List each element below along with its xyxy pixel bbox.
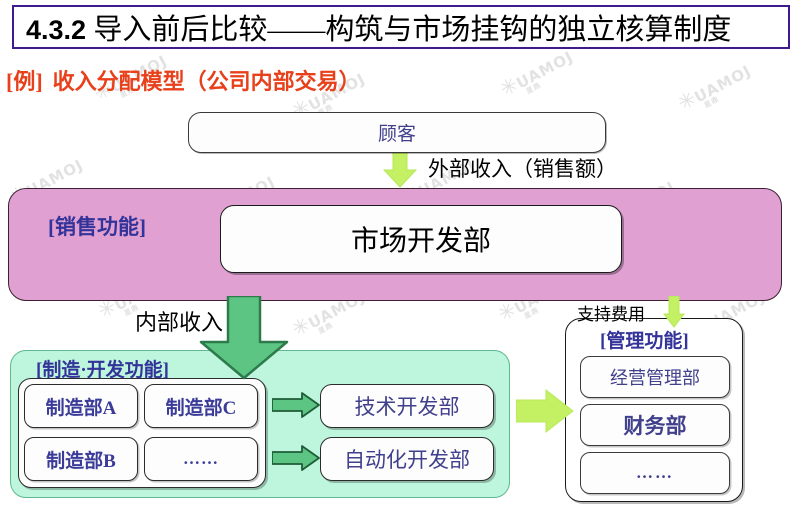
mfg-dept-c-box: 制造部C [144, 384, 258, 428]
mfg-to-automation-arrow-icon [272, 445, 320, 471]
technology-development-dept-box: 技术开发部 [320, 384, 494, 428]
watermark: ✳UAMOJ星鼎 [674, 57, 758, 121]
management-dept-more-box: …… [580, 452, 730, 494]
example-tag: [例] [6, 69, 43, 94]
internal-revenue-label: 内部收入 [135, 305, 223, 337]
dev-to-management-arrow-icon [516, 388, 574, 434]
sales-function-label: [销售功能] [48, 211, 146, 241]
watermark-star-icon: ✳ [496, 72, 523, 101]
watermark-text: UAMOJ [513, 48, 576, 93]
customer-label: 顾客 [378, 119, 416, 146]
management-function-label: [管理功能] [600, 326, 689, 353]
customer-box: 顾客 [188, 112, 606, 153]
support-cost-label: 支持费用 [577, 300, 645, 325]
mfg-dept-more-box: …… [144, 437, 258, 481]
title-body: 导入前后比较——构筑与市场挂钩的独立核算制度 [93, 14, 731, 46]
example-heading: [例]收入分配模型（公司内部交易） [6, 64, 361, 96]
slide-canvas: ✳UAMOJ星鼎 ✳UAMOJ星鼎 ✳UAMOJ星鼎 ✳UAMOJ星鼎 ✳UAM… [0, 0, 807, 507]
operations-management-dept-box: 经营管理部 [580, 356, 730, 398]
page-title: 4.3.2 导入前后比较——构筑与市场挂钩的独立核算制度 [14, 6, 731, 48]
slide-title-box: 4.3.2 导入前后比较——构筑与市场挂钩的独立核算制度 [12, 5, 790, 49]
example-text: 收入分配模型（公司内部交易） [53, 69, 361, 94]
market-development-dept-box: 市场开发部 [220, 205, 622, 273]
mfg-dept-a-box: 制造部A [24, 384, 138, 428]
title-number: 4.3.2 [26, 15, 86, 45]
watermark-sub: 星鼎 [702, 75, 757, 111]
mfg-to-tech-arrow-icon [272, 392, 320, 418]
watermark-sub: 星鼎 [524, 61, 579, 97]
mfg-dept-b-box: 制造部B [24, 437, 138, 481]
finance-dept-box: 财务部 [580, 404, 730, 446]
watermark-sub: 星鼎 [316, 301, 371, 337]
watermark-star-icon: ✳ [288, 312, 315, 341]
watermark-star-icon: ✳ [674, 86, 701, 115]
automation-development-dept-box: 自动化开发部 [320, 437, 494, 481]
market-development-dept-label: 市场开发部 [351, 219, 491, 259]
external-revenue-arrow-icon [383, 152, 417, 188]
watermark-text: UAMOJ [691, 62, 754, 107]
manufacturing-function-label: [制造·开发功能] [36, 355, 169, 382]
support-cost-arrow-icon [663, 296, 685, 328]
external-revenue-label: 外部收入（销售额） [428, 153, 617, 183]
watermark: ✳UAMOJ星鼎 [496, 43, 580, 107]
watermark-star-icon: ✳ [494, 297, 521, 326]
